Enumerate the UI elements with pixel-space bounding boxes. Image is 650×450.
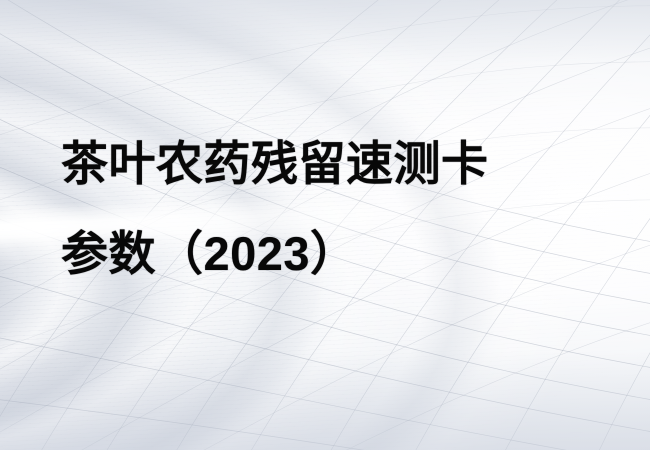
title-line-1: 茶叶农药残留速测卡: [61, 137, 621, 190]
title-block: 茶叶农药残留速测卡 参数（2023）: [61, 137, 621, 280]
title-line-2: 参数（2023）: [61, 227, 621, 280]
banner-canvas: 茶叶农药残留速测卡 参数（2023）: [0, 0, 650, 450]
